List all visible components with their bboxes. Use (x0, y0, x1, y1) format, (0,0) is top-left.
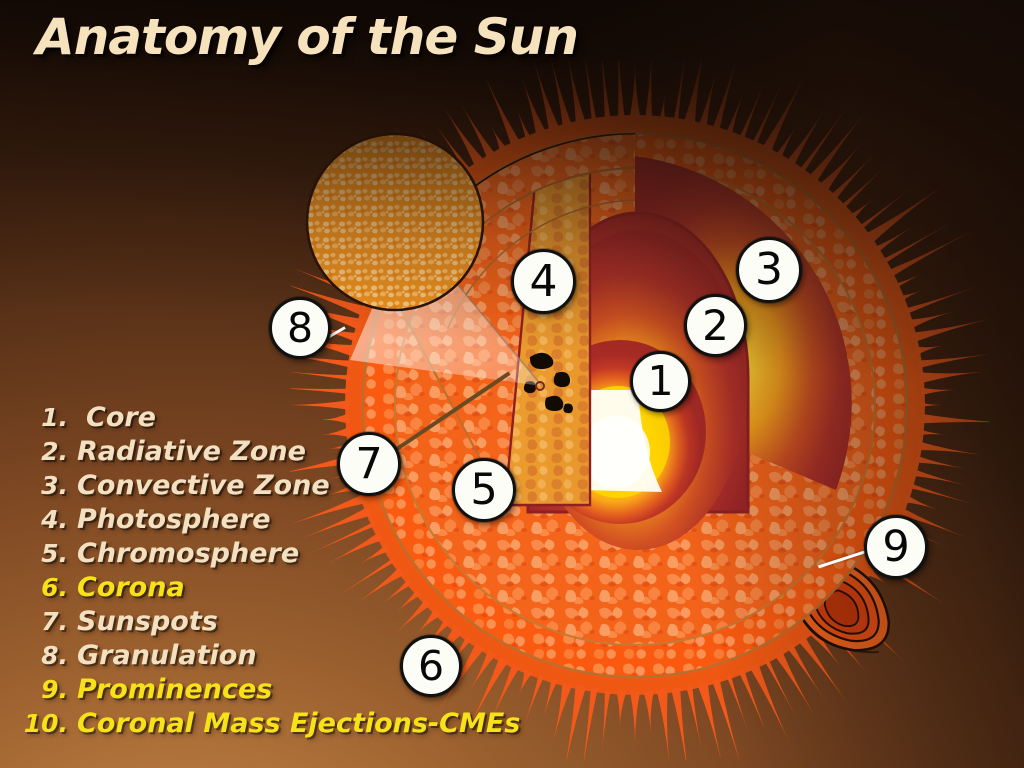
legend-item-coronal-mass-ejections-cmes[interactable]: 10.Coronal Mass Ejections-CMEs (10, 708, 460, 742)
callout-granulation[interactable]: 8 (269, 297, 331, 359)
callout-convective-zone[interactable]: 3 (736, 237, 802, 303)
legend-item-number: 8. (10, 641, 77, 670)
legend-item-label: Chromosphere (77, 538, 299, 569)
callout-chromosphere[interactable]: 5 (452, 458, 516, 522)
legend-item-number: 2. (10, 437, 77, 466)
legend-item-label: Corona (77, 572, 185, 603)
legend-item-number: 4. (10, 505, 77, 534)
legend-item-number: 6. (10, 573, 77, 602)
legend-item-number: 10. (10, 709, 77, 738)
legend-item-prominences[interactable]: 9.Prominences (10, 674, 460, 708)
legend-item-label: Radiative Zone (77, 436, 306, 467)
legend-item-label: Convective Zone (77, 470, 330, 501)
sun-anatomy-infographic: Anatomy of the Sun 1.Core2.Radiative Zon… (0, 0, 1024, 768)
page-title: Anatomy of the Sun (36, 8, 578, 66)
legend-item-number: 1. (10, 403, 77, 432)
legend-item-label: Sunspots (77, 606, 218, 637)
legend-item-number: 7. (10, 607, 77, 636)
callout-prominences[interactable]: 9 (864, 515, 928, 579)
legend-item-label: Core (77, 402, 156, 433)
legend-item-chromosphere[interactable]: 5.Chromosphere (10, 538, 460, 572)
legend-item-sunspots[interactable]: 7.Sunspots (10, 606, 460, 640)
callout-sunspots[interactable]: 7 (337, 432, 401, 496)
callout-radiative-zone[interactable]: 2 (684, 294, 747, 357)
callout-corona[interactable]: 6 (400, 635, 462, 697)
legend-item-label: Prominences (77, 674, 272, 705)
legend-item-core[interactable]: 1.Core (10, 402, 460, 436)
callout-photosphere[interactable]: 4 (511, 249, 576, 314)
legend-item-number: 3. (10, 471, 77, 500)
legend-item-label: Photosphere (77, 504, 271, 535)
legend-item-number: 5. (10, 539, 77, 568)
legend-item-granulation[interactable]: 8.Granulation (10, 640, 460, 674)
legend-item-label: Granulation (77, 640, 257, 671)
legend-item-corona[interactable]: 6.Corona (10, 572, 460, 606)
callout-core[interactable]: 1 (630, 351, 691, 412)
legend-item-label: Coronal Mass Ejections-CMEs (77, 708, 520, 739)
legend-item-photosphere[interactable]: 4.Photosphere (10, 504, 460, 538)
legend-item-number: 9. (10, 675, 77, 704)
